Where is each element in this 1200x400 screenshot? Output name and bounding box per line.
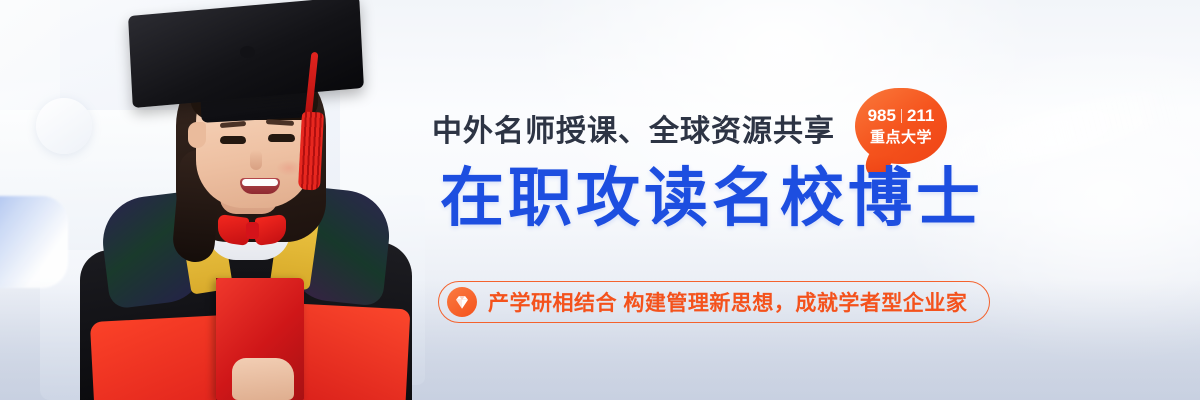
- bow-tie-knot: [246, 222, 259, 239]
- badge-985-label: 985: [868, 107, 896, 124]
- teeth: [242, 179, 278, 186]
- badge-top-row: 985 211: [868, 107, 935, 124]
- mortarboard-button: [240, 46, 255, 58]
- smiling-mouth: [240, 178, 280, 194]
- bg-blue-accent-shape: [0, 196, 68, 288]
- hand: [232, 358, 294, 400]
- tagline-row: 中外名师授课、全球资源共享 985 211 重点大学: [432, 92, 947, 164]
- page-title: 在职攻读名校博士: [440, 166, 984, 230]
- university-tier-badge: 985 211 重点大学: [855, 88, 947, 164]
- graduate-photo: [80, 0, 410, 400]
- ear: [188, 122, 206, 148]
- badge-211-label: 211: [907, 107, 934, 124]
- tagline-text: 中外名师授课、全球资源共享: [432, 106, 835, 150]
- badge-bottom-label: 重点大学: [870, 130, 932, 145]
- slogan-text: 产学研相结合 构建管理新思想，成就学者型企业家: [488, 287, 967, 317]
- promo-banner: 中外名师授课、全球资源共享 985 211 重点大学 在职攻读名校博士: [0, 0, 1200, 400]
- tassel-fringe: [298, 111, 324, 190]
- eye-left: [220, 136, 246, 144]
- red-bow-tie: [218, 216, 286, 244]
- badge-divider: [901, 109, 902, 123]
- slogan-pill: 产学研相结合 构建管理新思想，成就学者型企业家: [438, 281, 990, 323]
- banner-content: 中外名师授课、全球资源共享 985 211 重点大学 在职攻读名校博士: [432, 0, 1032, 400]
- nose: [250, 150, 262, 170]
- diamond-icon: [447, 287, 477, 317]
- eye-right: [268, 134, 295, 142]
